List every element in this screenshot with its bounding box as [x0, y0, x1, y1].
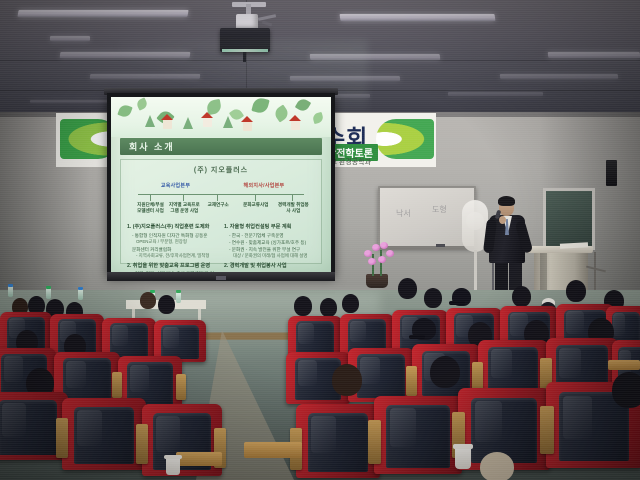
bottle-cap: [176, 290, 181, 293]
wall-speaker: [606, 160, 617, 186]
audience-head: [320, 298, 337, 317]
org-connector: [183, 194, 184, 201]
audience-head: [158, 295, 175, 314]
auditorium-seat[interactable]: [374, 396, 462, 474]
projection-screen: 회사 소개 (주) 지오플러스 교육사업본부 해외지사/사업본부 지원단: [107, 93, 335, 276]
bullet-item: 1. (주)지오플러스(주) 직업훈련 도제화: [127, 224, 218, 232]
tree-icon: [183, 117, 193, 129]
bullet-item: - 한국 - 전문기업체 구축운영: [229, 232, 315, 239]
audience-head: [512, 286, 531, 307]
bullet-item: 2. 취업을 위한 맞춤교육 프로그램 운영: [127, 263, 218, 271]
seat-armrest: [136, 424, 148, 464]
leaf-icon: [135, 97, 148, 110]
orchid-bloom: [372, 244, 380, 251]
slide-bullet-columns: 1. (주)지오플러스(주) 직업훈련 도제화 - 통합형 인적자원 다자간 특…: [127, 221, 315, 272]
org-node: 지원단체/부설 모델센터 사업: [135, 202, 167, 214]
bullet-column-left: 1. (주)지오플러스(주) 직업훈련 도제화 - 통합형 인적자원 다자간 특…: [127, 221, 218, 272]
orchid-bloom: [368, 258, 376, 265]
house-icon: [163, 119, 172, 129]
audience-head: [342, 294, 359, 313]
orchid-bloom: [378, 256, 386, 263]
bullet-column-right: 1. 자율형 취업컨설팅 부문 계획 - 한국 - 전문기업체 구축운영 - 연…: [224, 221, 315, 272]
ceiling-seam: [0, 60, 640, 61]
paper-cup: [455, 447, 471, 469]
org-connector: [138, 194, 303, 195]
equipment-stand: [594, 252, 596, 294]
paper-cup-lid: [164, 455, 182, 459]
audience-head: [424, 288, 442, 308]
audience-head-with-cap: [412, 318, 436, 340]
water-bottle: [46, 288, 51, 299]
whiteboard-marker[interactable]: [436, 244, 445, 247]
auditorium-seat[interactable]: [62, 398, 146, 470]
water-bottle: [8, 286, 13, 297]
seat-armrest: [540, 406, 554, 454]
whiteboard-writing: 도형: [432, 206, 447, 215]
orchid-bloom: [386, 250, 394, 257]
seat-armrest: [406, 366, 417, 396]
screen-pull-knob[interactable]: [216, 276, 226, 280]
whiteboard-marker-tray: [380, 246, 474, 250]
org-node: 지역별 교육프로그램 운영 사업: [168, 202, 200, 214]
seat-armrest: [112, 372, 122, 398]
ceiling-light: [290, 76, 400, 81]
banner-swoosh-icon: [376, 119, 434, 159]
org-node: 문화교류사업: [240, 202, 272, 208]
audience-head-with-cap: [452, 288, 471, 306]
org-label-left: 교육사업본부: [161, 182, 190, 189]
wall-banner-right: 수회 강전학토론 학교 환경공학과: [318, 113, 436, 167]
ceiling-light: [17, 10, 188, 17]
bottle-cap: [8, 284, 13, 287]
org-connector: [292, 194, 293, 201]
lecture-hall-photo: 200 우수취업 일시 2009. 수회 강전학토론 학교 환경공학과: [0, 0, 640, 480]
org-connector: [255, 194, 256, 201]
audience-head: [480, 452, 514, 480]
bullet-item: - 지역사회교류, 전/후학사업연계, 밀착형: [136, 253, 218, 260]
slide-title-bar: 회사 소개: [120, 138, 322, 155]
water-bottle: [176, 292, 181, 303]
orchid-bloom: [364, 250, 372, 257]
ceiling-light: [310, 54, 441, 60]
projector-cable: [243, 52, 246, 62]
orchid-pot: [366, 274, 388, 288]
folding-desk[interactable]: [244, 442, 302, 458]
folding-desk[interactable]: [608, 360, 640, 370]
paper-cup-lid: [453, 444, 473, 449]
water-bottle: [78, 289, 83, 300]
bottle-cap: [46, 286, 51, 289]
bullet-item: - 통합형 인적자원 다자간 특화형 공동훈: [132, 232, 218, 239]
presentation-slide: 회사 소개 (주) 지오플러스 교육사업본부 해외지사/사업본부 지원단: [111, 97, 331, 272]
bullet-item: - 연수원 - 맞춤제교육 (싱가포르/호주 등): [229, 239, 315, 246]
lectern-edge: [540, 252, 547, 294]
tree-icon: [145, 115, 155, 127]
folding-desk[interactable]: [176, 452, 222, 466]
org-node: 교재연구소: [202, 202, 234, 208]
seat-armrest: [56, 418, 68, 458]
bullet-item: 1. 자율형 취업컨설팅 부문 계획: [224, 224, 315, 232]
bullet-item: 문화센터 커리큘럼화: [132, 246, 218, 253]
bullet-item: OPEN교육 / 부분형, 현장형: [136, 239, 218, 246]
audience-head: [398, 278, 417, 299]
seat-armrest: [176, 374, 186, 400]
ceiling-light: [30, 100, 110, 103]
audience-head: [566, 280, 586, 302]
leaf-icon: [117, 103, 132, 118]
audience-head: [612, 372, 640, 408]
slide-heading: (주) 지오플러스: [121, 165, 321, 175]
ceiling-light: [90, 74, 200, 79]
audience-head: [332, 364, 362, 396]
bottle-cap: [78, 287, 83, 290]
orchid-stem: [380, 250, 382, 276]
house-icon: [291, 120, 300, 130]
paper-cup: [166, 457, 180, 475]
recessed-chalkboard: [543, 188, 595, 250]
whiteboard-writing: 낙서: [396, 210, 411, 219]
presenter-hand: [499, 216, 506, 224]
org-chart: 교육사업본부 해외지사/사업본부 지원단체/부설 모델센터 사업 지역별 교육프…: [127, 182, 315, 216]
leaf-icon: [295, 97, 311, 113]
ceiling-light: [448, 92, 543, 96]
org-label-right: 해외지사/사업본부: [244, 182, 285, 189]
presenter-hair: [498, 196, 515, 206]
tree-icon: [223, 116, 233, 128]
org-node: 경력개발 취업봉사 사업: [277, 202, 309, 214]
audience-head: [140, 292, 156, 309]
house-icon: [243, 121, 252, 131]
org-connector: [217, 194, 218, 201]
slide-decor-band: [111, 97, 331, 137]
ceiling-light: [50, 36, 90, 41]
leaf-icon: [312, 112, 324, 124]
slide-title: 회사 소개: [129, 140, 175, 153]
ceiling-light: [500, 74, 618, 79]
bullet-item: 2. 경력개발 및 취업봉사 사업: [224, 263, 315, 271]
orchid-bloom: [380, 242, 388, 249]
ceiling-light: [340, 14, 496, 21]
seat-armrest: [368, 420, 381, 464]
leaf-icon: [251, 97, 269, 115]
ceiling-light: [60, 52, 191, 58]
bullet-item: 대상 / 문화권의 미래/협 사업에 대해 설명: [233, 253, 315, 260]
audience-head: [294, 296, 312, 316]
house-icon: [203, 117, 212, 127]
ceiling-light: [548, 52, 640, 58]
org-connector: [150, 194, 151, 201]
leaf-icon: [272, 104, 290, 122]
slide-body: (주) 지오플러스 교육사업본부 해외지사/사업본부 지원단체/부설 모델센터 …: [120, 159, 322, 264]
audience-head: [430, 356, 460, 388]
